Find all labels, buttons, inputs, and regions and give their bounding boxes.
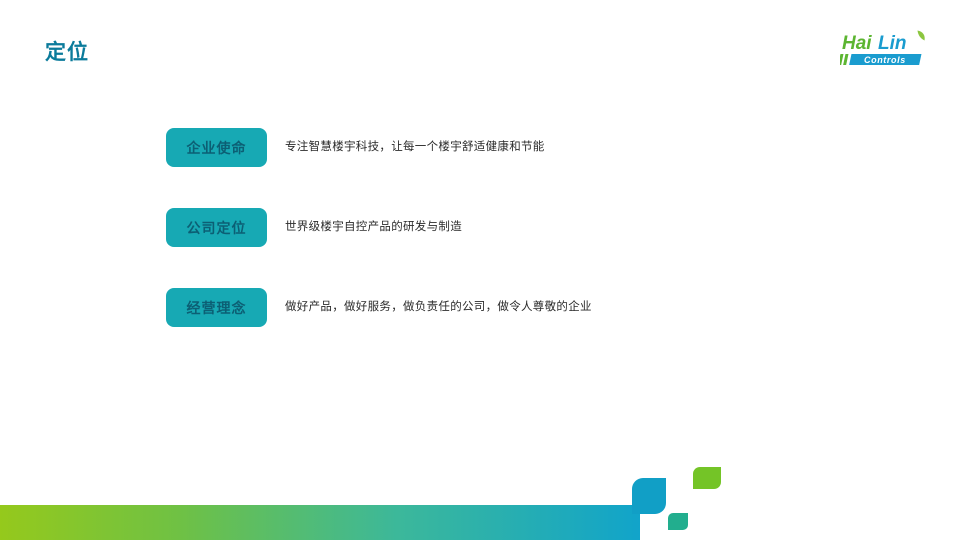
hailin-controls-logo: Hai Lin Controls: [840, 28, 932, 68]
svg-text:Lin: Lin: [878, 33, 907, 54]
statement-text: 做好产品，做好服务，做负责任的公司，做令人尊敬的企业: [285, 299, 592, 315]
slide-canvas: 定位 Hai Lin Controls 企业使命 专注智慧楼宇科技，让每一个楼宇…: [0, 0, 960, 540]
leaf-shape-teal: [668, 513, 688, 530]
page-title: 定位: [45, 42, 89, 63]
statement-row: 公司定位 世界级楼宇自控产品的研发与制造: [166, 208, 906, 247]
statement-row: 经营理念 做好产品，做好服务，做负责任的公司，做令人尊敬的企业: [166, 288, 906, 327]
statement-row: 企业使命 专注智慧楼宇科技，让每一个楼宇舒适健康和节能: [166, 128, 906, 167]
badge-label: 企业使命: [187, 141, 247, 155]
statement-text: 世界级楼宇自控产品的研发与制造: [285, 219, 462, 235]
leaf-shape-green: [693, 467, 721, 489]
leaf-shape-blue: [632, 478, 666, 514]
statement-list: 企业使命 专注智慧楼宇科技，让每一个楼宇舒适健康和节能 公司定位 世界级楼宇自控…: [166, 128, 906, 327]
badge-mission[interactable]: 企业使命: [166, 128, 267, 167]
badge-label: 经营理念: [187, 301, 247, 315]
gradient-bar: [0, 505, 640, 540]
svg-text:Controls: Controls: [864, 55, 906, 65]
svg-text:Hai: Hai: [842, 33, 872, 54]
badge-label: 公司定位: [187, 221, 247, 235]
statement-text: 专注智慧楼宇科技，让每一个楼宇舒适健康和节能: [285, 139, 545, 155]
badge-positioning[interactable]: 公司定位: [166, 208, 267, 247]
badge-philosophy[interactable]: 经营理念: [166, 288, 267, 327]
